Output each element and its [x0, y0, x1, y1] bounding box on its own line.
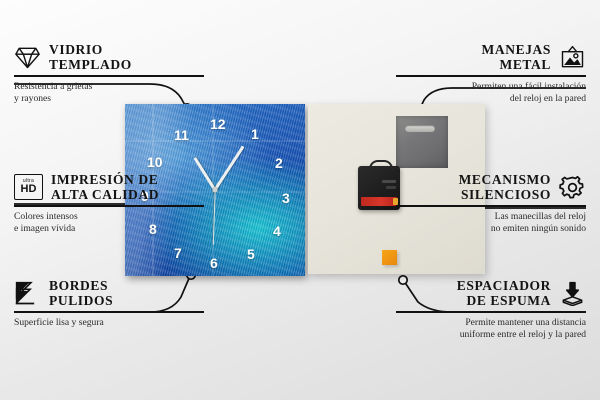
gear-icon: [559, 175, 586, 200]
mechanism-label-bar: [382, 180, 396, 183]
callout-desc-line2: del reloj en la pared: [396, 93, 586, 105]
battery: [361, 197, 397, 206]
clock-mechanism: [358, 166, 400, 210]
callout-espaciador-espuma: ESPACIADOR DE ESPUMA Permite mantener un…: [396, 278, 586, 341]
callout-desc-line1: Colores intensos: [14, 211, 204, 223]
clock-numeral-7: 7: [174, 246, 182, 260]
callout-title-line2: ALTA CALIDAD: [51, 187, 159, 202]
callout-rule: [14, 75, 204, 77]
callout-vidrio-templado: VIDRIO TEMPLADO Resistencia a grietas y …: [14, 42, 204, 105]
picture-hanger-icon: [559, 45, 586, 70]
callout-desc-line2: y rayones: [14, 93, 204, 105]
diamond-icon: [14, 45, 41, 70]
clock-numeral-3: 3: [282, 191, 290, 205]
infographic-stage: 12 1 2 3 4 5 6 7 8 9 10 11: [0, 0, 600, 400]
callout-desc-line1: Superficie lisa y segura: [14, 317, 204, 329]
callout-title-line2: TEMPLADO: [49, 57, 132, 72]
callout-rule: [14, 205, 204, 207]
callout-title-line1: ESPACIADOR: [457, 278, 551, 293]
mechanism-hook: [369, 160, 393, 171]
callout-desc-line1: Permiten una fácil instalación: [396, 81, 586, 93]
clock-numeral-1: 1: [251, 127, 259, 141]
clock-numeral-10: 10: [147, 155, 163, 169]
callout-desc-line2: no emiten ningún sonido: [396, 223, 586, 235]
ultra-hd-icon-large-text: HD: [21, 184, 37, 195]
callout-rule: [14, 311, 204, 313]
foam-spacer-pad: [382, 250, 397, 265]
callout-title-line1: IMPRESIÓN DE: [51, 172, 159, 187]
callout-desc-line2: uniforme entre el reloj y la pared: [396, 329, 586, 341]
clock-numeral-5: 5: [247, 247, 255, 261]
callout-rule: [396, 75, 586, 77]
callout-title-line2: METAL: [482, 57, 551, 72]
callout-title-line2: DE ESPUMA: [457, 293, 551, 308]
callout-impresion-alta-calidad: ultra HD IMPRESIÓN DE ALTA CALIDAD Color…: [14, 172, 204, 235]
metal-hanger-plate: [396, 116, 448, 168]
clock-numeral-11: 11: [174, 128, 189, 142]
callout-title-line2: SILENCIOSO: [459, 187, 551, 202]
callout-desc-line1: Las manecillas del reloj: [396, 211, 586, 223]
clock-numeral-6: 6: [210, 256, 218, 270]
ultra-hd-icon: ultra HD: [14, 174, 43, 200]
mechanism-label-bar-2: [386, 186, 396, 189]
hanger-slot: [405, 125, 435, 132]
callout-manejas-metal: MANEJAS METAL Permiten una fácil instala…: [396, 42, 586, 105]
callout-title-line2: PULIDOS: [49, 293, 113, 308]
callout-title-line1: MANEJAS: [482, 42, 551, 57]
clock-numeral-12: 12: [210, 117, 226, 131]
callout-title-line1: BORDES: [49, 278, 113, 293]
foam-spacer-icon: [559, 281, 586, 306]
callout-desc-line2: e imagen vívida: [14, 223, 204, 235]
clock-numeral-2: 2: [275, 156, 283, 170]
callout-title-line1: MECANISMO: [459, 172, 551, 187]
clock-numeral-4: 4: [273, 224, 281, 238]
callout-desc-line1: Permite mantener una distancia: [396, 317, 586, 329]
callout-rule: [396, 311, 586, 313]
callout-title-line1: VIDRIO: [49, 42, 132, 57]
callout-desc-line1: Resistencia a grietas: [14, 81, 204, 93]
callout-mecanismo-silencioso: MECANISMO SILENCIOSO Las manecillas del …: [396, 172, 586, 235]
callout-bordes-pulidos: BORDES PULIDOS Superficie lisa y segura: [14, 278, 204, 329]
polished-edges-icon: [14, 281, 41, 306]
clock-center-pin: [213, 188, 218, 193]
callout-rule: [396, 205, 586, 207]
